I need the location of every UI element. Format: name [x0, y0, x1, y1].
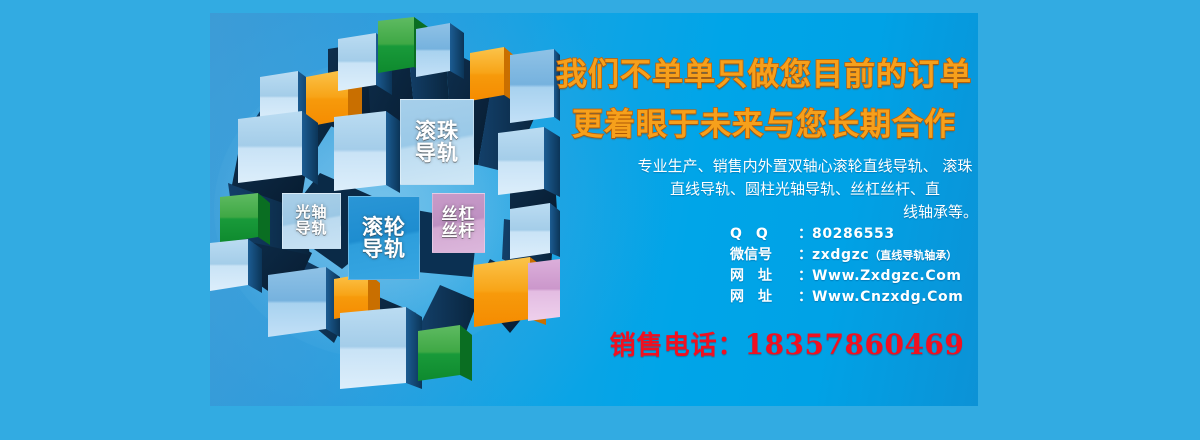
contact-row-wechat: 微信号 ： zxdgzc （直线导轨轴承）	[730, 244, 978, 265]
description-line-1: 专业生产、销售内外置双轴心滚轮直线导轨、	[638, 157, 938, 175]
contact-separator-qq: ：	[798, 223, 812, 243]
headline-line-2: 更着眼于未来与您长期合作	[550, 99, 978, 144]
product-box-gunlun-line1: 滚轮	[362, 216, 406, 238]
contact-label-wechat: 微信号	[730, 244, 798, 264]
page-canvas: 滚珠 导轨 光轴 导轨 滚轮 导轨 丝杠 丝杆 我们不单单只做您目前的订单 更着…	[0, 0, 1200, 440]
contact-separator-website-2: ：	[798, 286, 812, 306]
contact-row-website-2: 网 址 ： Www.Cnzxdg.Com	[730, 286, 978, 307]
product-box-guangzhou-line2: 导轨	[295, 221, 327, 237]
product-box-gunlun-daogui: 滚轮 导轨	[348, 196, 420, 280]
contact-separator-website-1: ：	[798, 265, 812, 285]
contact-value-website-1[interactable]: Www.Zxdgzc.Com	[812, 268, 962, 284]
product-box-gunzhu-line1: 滚珠	[415, 120, 459, 142]
product-box-gunzhu-daogui: 滚珠 导轨	[400, 99, 474, 185]
description-line-3: 线轴承等。	[632, 201, 978, 224]
contact-value-website-2[interactable]: Www.Cnzxdg.Com	[812, 289, 963, 305]
headline-line-1: 我们不单单只做您目前的订单	[550, 49, 978, 94]
product-box-sigang-sigan: 丝杠 丝杆	[432, 193, 485, 253]
product-box-gunlun-line2: 导轨	[362, 238, 406, 260]
product-box-guangzhou-daogui: 光轴 导轨	[282, 193, 341, 249]
contact-label-website-2: 网 址	[730, 286, 798, 306]
banner-copy-column: 我们不单单只做您目前的订单 更着眼于未来与您长期合作 专业生产、销售内外置双轴心…	[550, 13, 978, 406]
sales-phone-number: 18357860469	[745, 328, 965, 361]
sales-phone-label: 销售电话：	[610, 331, 745, 361]
contact-label-qq: Q Q	[730, 223, 798, 243]
contact-label-website-1: 网 址	[730, 265, 798, 285]
product-box-gunzhu-line2: 导轨	[415, 142, 459, 164]
contact-info-block: Q Q ： 80286553 微信号 ： zxdgzc （直线导轨轴承） 网 址…	[730, 223, 978, 307]
contact-value-wechat: zxdgzc	[812, 247, 869, 263]
description-text: 专业生产、销售内外置双轴心滚轮直线导轨、 滚珠直线导轨、圆柱光轴导轨、丝杠丝杆、…	[632, 155, 978, 224]
product-box-sigang-line2: 丝杆	[441, 223, 475, 240]
contact-value-qq: 80286553	[812, 226, 895, 242]
contact-row-website-1: 网 址 ： Www.Zxdgzc.Com	[730, 265, 978, 286]
contact-note-wechat: （直线导轨轴承）	[869, 247, 957, 263]
promo-banner: 滚珠 导轨 光轴 导轨 滚轮 导轨 丝杠 丝杆 我们不单单只做您目前的订单 更着…	[210, 13, 978, 406]
sales-phone-block: 销售电话：18357860469	[596, 325, 978, 362]
contact-separator-wechat: ：	[798, 244, 812, 264]
contact-row-qq: Q Q ： 80286553	[730, 223, 978, 244]
